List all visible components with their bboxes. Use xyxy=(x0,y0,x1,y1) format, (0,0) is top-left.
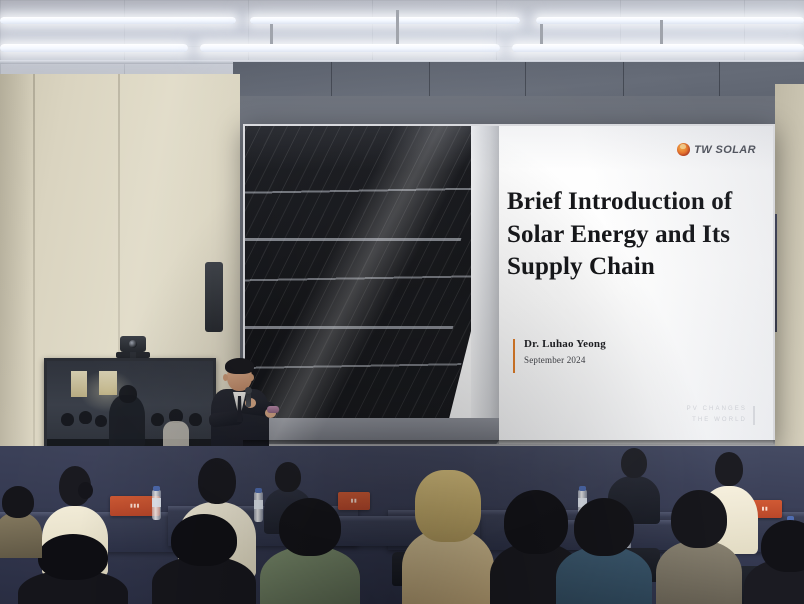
right-wall xyxy=(775,84,804,468)
audience-member xyxy=(152,514,256,604)
conference-camera-icon xyxy=(120,336,146,352)
fluorescent-light xyxy=(512,44,804,52)
conference-photo: TW SOLAR Brief Introduction of Solar Ene… xyxy=(0,0,804,604)
audience-member xyxy=(402,470,494,604)
brand-tagline: PV CHANGES THE WORLD xyxy=(687,404,755,426)
sun-icon xyxy=(677,143,690,156)
presenter-name: Dr. Luhao Yeong xyxy=(524,338,606,350)
fluorescent-light xyxy=(200,44,500,52)
fluorescent-light xyxy=(0,44,188,52)
presentation-slide: TW SOLAR Brief Introduction of Solar Ene… xyxy=(245,126,773,444)
presenter-byline: Dr. Luhao Yeong September 2024 xyxy=(513,338,606,365)
light-hanger xyxy=(660,20,663,44)
projection-screen: TW SOLAR Brief Introduction of Solar Ene… xyxy=(243,124,775,446)
audience-member xyxy=(260,498,360,604)
title-line-3: Supply Chain xyxy=(507,251,761,284)
presentation-date: September 2024 xyxy=(524,355,606,365)
light-hanger xyxy=(540,24,543,44)
video-feed xyxy=(47,361,213,459)
title-line-2: Solar Energy and Its xyxy=(507,219,761,252)
audience-member xyxy=(0,486,42,556)
wall-speaker xyxy=(205,262,223,332)
audience-member xyxy=(656,490,742,604)
light-hanger xyxy=(396,10,399,44)
microphone-icon xyxy=(246,392,251,407)
fluorescent-light xyxy=(536,17,804,24)
presenter-ear xyxy=(223,374,228,381)
presenter-hair xyxy=(225,358,254,374)
light-hanger xyxy=(270,24,273,44)
tagline-line-1: PV CHANGES xyxy=(687,404,747,415)
fluorescent-light xyxy=(250,17,520,24)
presenter-ear xyxy=(249,374,254,381)
audience-member xyxy=(556,498,652,604)
solar-panel-image xyxy=(245,126,499,444)
audience-member xyxy=(744,520,804,604)
presentation-clicker xyxy=(267,406,279,413)
fluorescent-light xyxy=(0,17,236,24)
slide-title: Brief Introduction of Solar Energy and I… xyxy=(507,186,761,284)
brand-logo: TW SOLAR xyxy=(677,143,756,156)
title-line-1: Brief Introduction of xyxy=(507,186,761,219)
brand-name: TW SOLAR xyxy=(694,144,756,156)
tagline-line-2: THE WORLD xyxy=(687,415,747,426)
